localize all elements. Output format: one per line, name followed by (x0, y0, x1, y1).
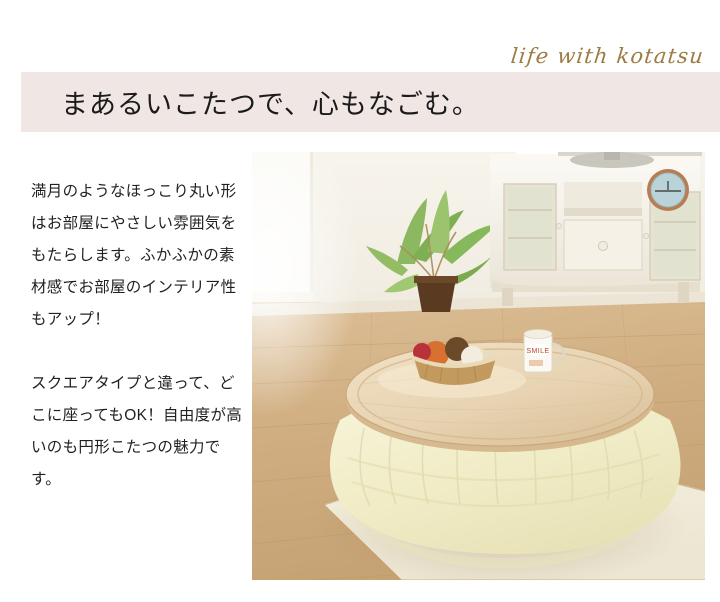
photo-illustration: SMILE (252, 152, 705, 580)
heading-band: まあるいこたつで、心もなごむ。 (21, 72, 720, 132)
page-title: まあるいこたつで、心もなごむ。 (61, 83, 480, 122)
wall-clock (647, 169, 689, 211)
round-kotatsu-table (346, 342, 654, 452)
copy-column: 満月のようなほっこり丸い形はお部屋にやさしい雰囲気をもたらします。ふかふかの素材… (31, 176, 247, 496)
brand-tagline: life with kotatsu (510, 44, 706, 68)
body-paragraph-1: 満月のようなほっこり丸い形はお部屋にやさしい雰囲気をもたらします。ふかふかの素材… (31, 176, 247, 336)
body-paragraph-2: スクエアタイプと違って、どこに座ってもOK！自由度が高いのも円形こたつの魅力です… (31, 368, 247, 496)
svg-text:SMILE: SMILE (526, 348, 549, 355)
product-photo: SMILE (252, 152, 705, 580)
page-root: life with kotatsu まあるいこたつで、心もなごむ。 満月のような… (0, 0, 720, 602)
